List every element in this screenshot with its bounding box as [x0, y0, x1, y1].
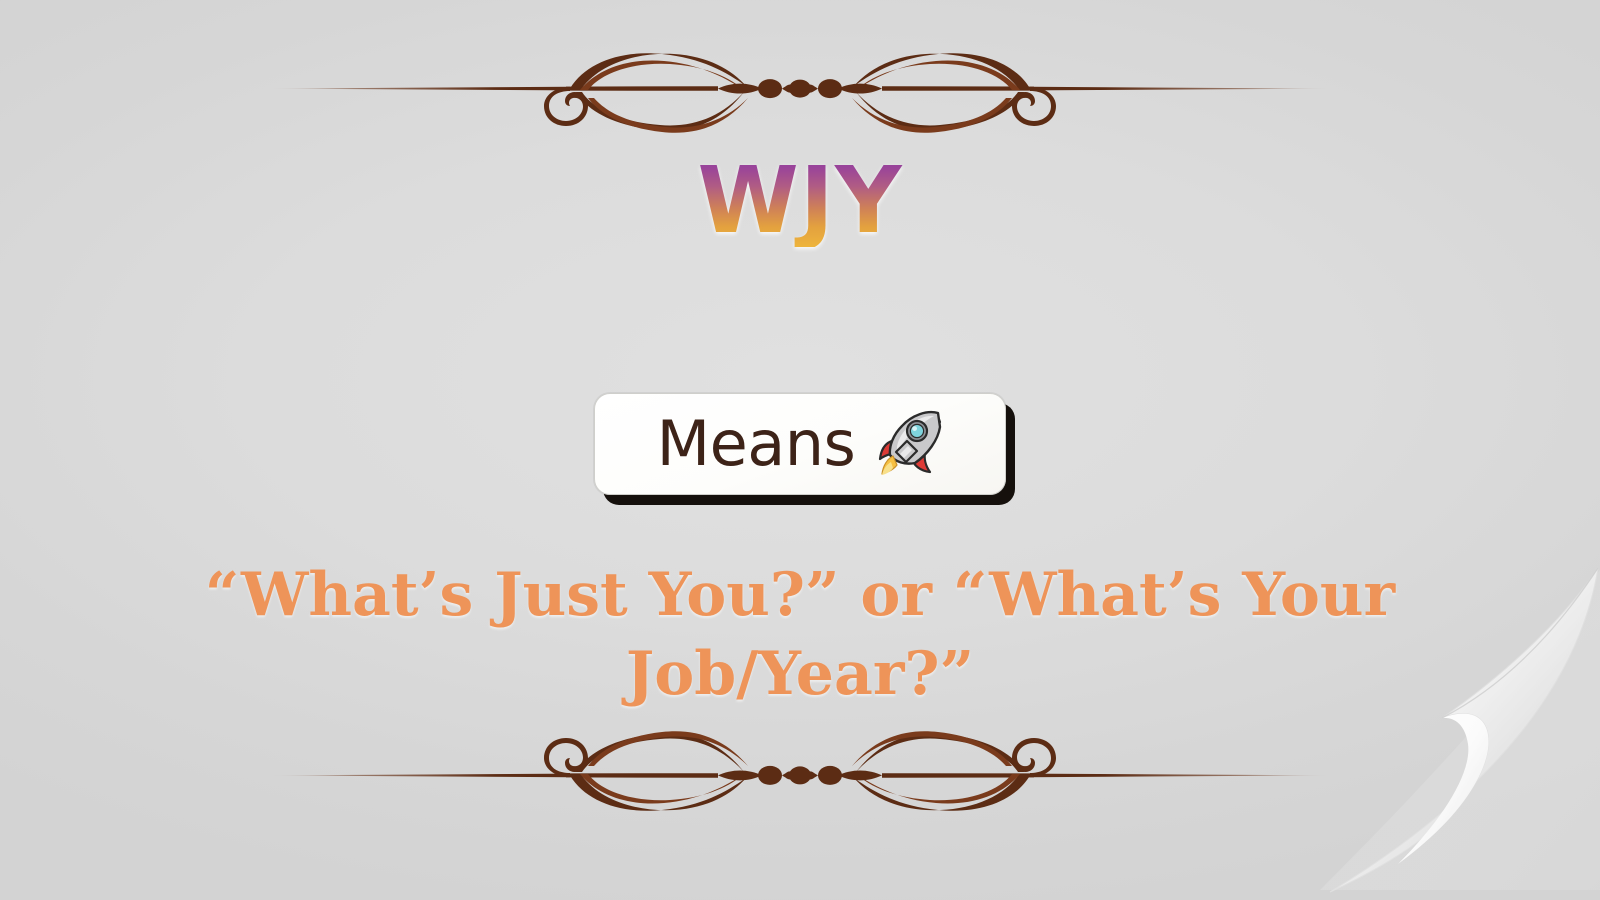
means-button-label: Means [657, 413, 856, 475]
decorative-flourish-divider-top [270, 42, 1330, 134]
rocket-icon [871, 404, 947, 484]
acronym-headline: WJY [697, 155, 902, 247]
meaning-text: “What’s Just You?” or “What’s Your Job/Y… [200, 556, 1400, 714]
acronym-card: WJY Means [0, 0, 1600, 900]
means-button-wrap: Means [0, 393, 1600, 495]
means-button[interactable]: Means [594, 393, 1006, 495]
decorative-flourish-divider-bottom [270, 730, 1330, 822]
acronym-headline-wrap: WJY [0, 155, 1600, 247]
